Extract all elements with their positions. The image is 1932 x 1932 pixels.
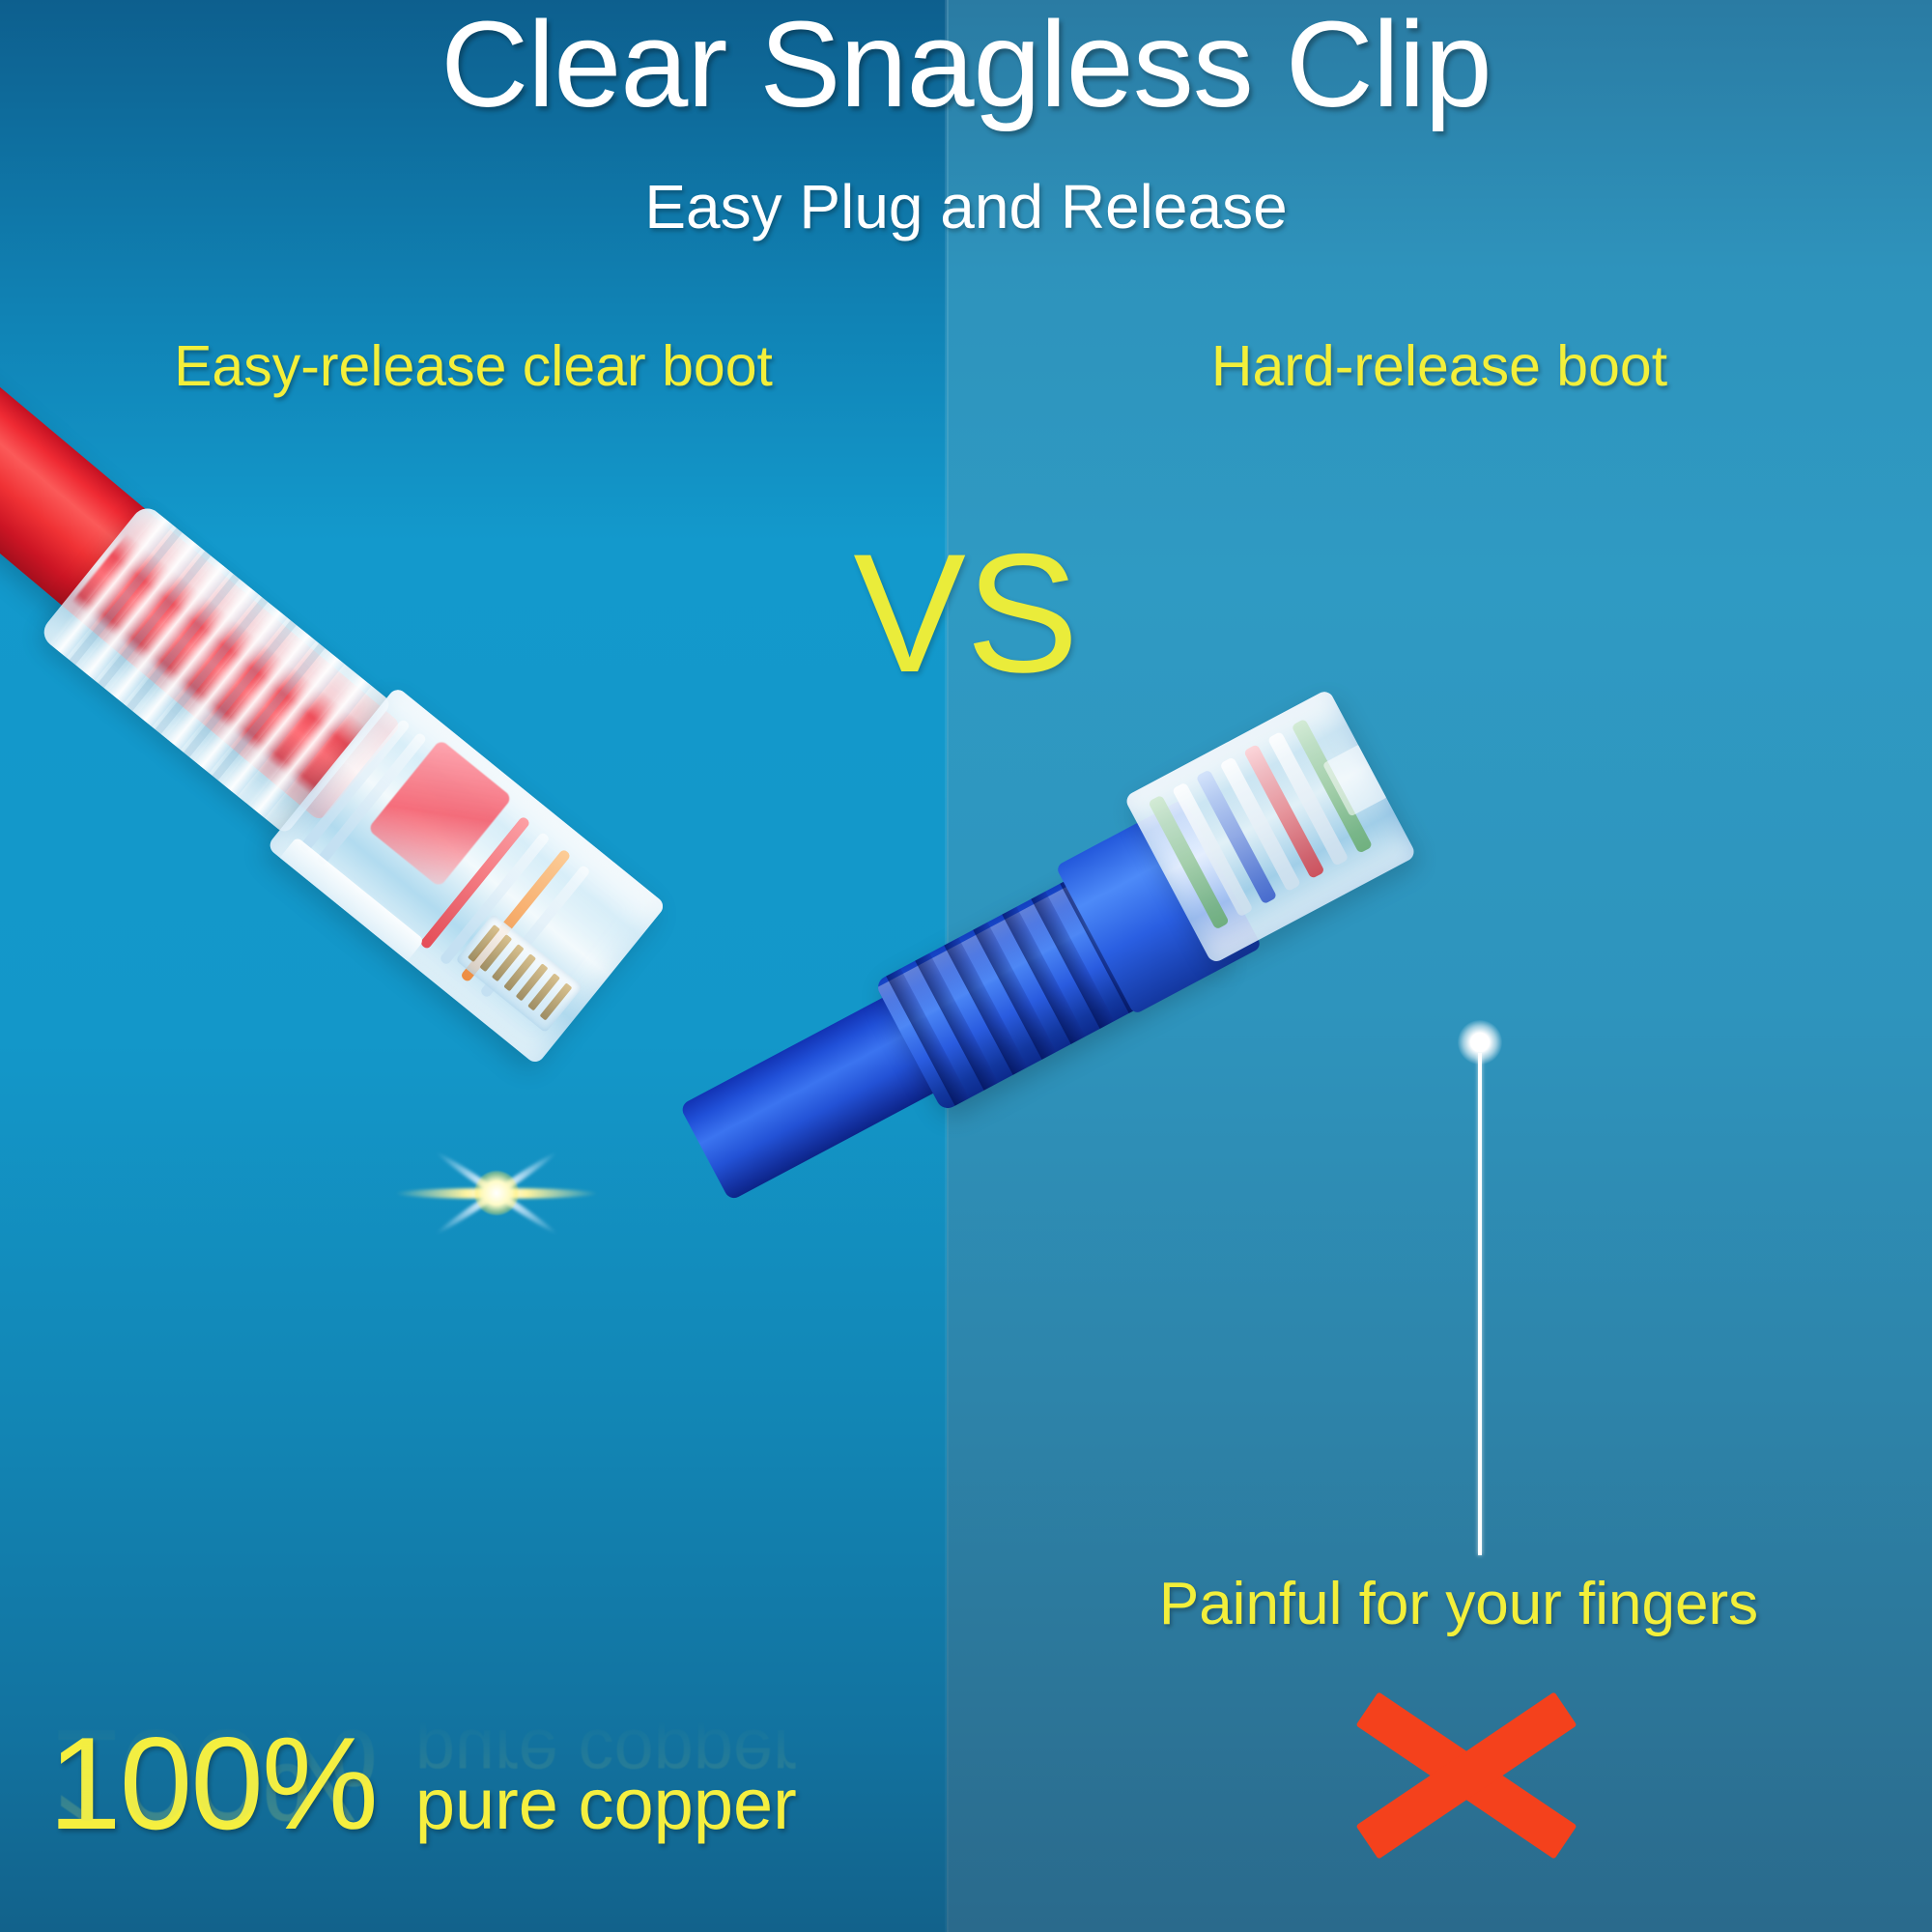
left-panel-label: Easy-release clear boot bbox=[0, 338, 947, 395]
pure-copper-badge: 100% pure copper 100% pure copper bbox=[48, 1718, 918, 1920]
promo-graphic: Clear Snagless Clip Easy Plug and Releas… bbox=[0, 0, 1932, 1932]
vs-label: VS bbox=[618, 529, 1314, 698]
pure-copper-reflection: 100% pure copper bbox=[48, 1710, 797, 1841]
painful-callout-label: Painful for your fingers bbox=[985, 1575, 1932, 1634]
page-subtitle: Easy Plug and Release bbox=[0, 176, 1932, 238]
red-x-icon bbox=[1350, 1692, 1582, 1859]
copper-percent-caption-reflection: pure copper bbox=[415, 1719, 797, 1790]
copper-percent-value-reflection: 100% bbox=[48, 1710, 377, 1841]
right-panel-label: Hard-release boot bbox=[947, 338, 1932, 395]
pointer-line-icon bbox=[1478, 1053, 1482, 1555]
page-title: Clear Snagless Clip bbox=[0, 4, 1932, 126]
